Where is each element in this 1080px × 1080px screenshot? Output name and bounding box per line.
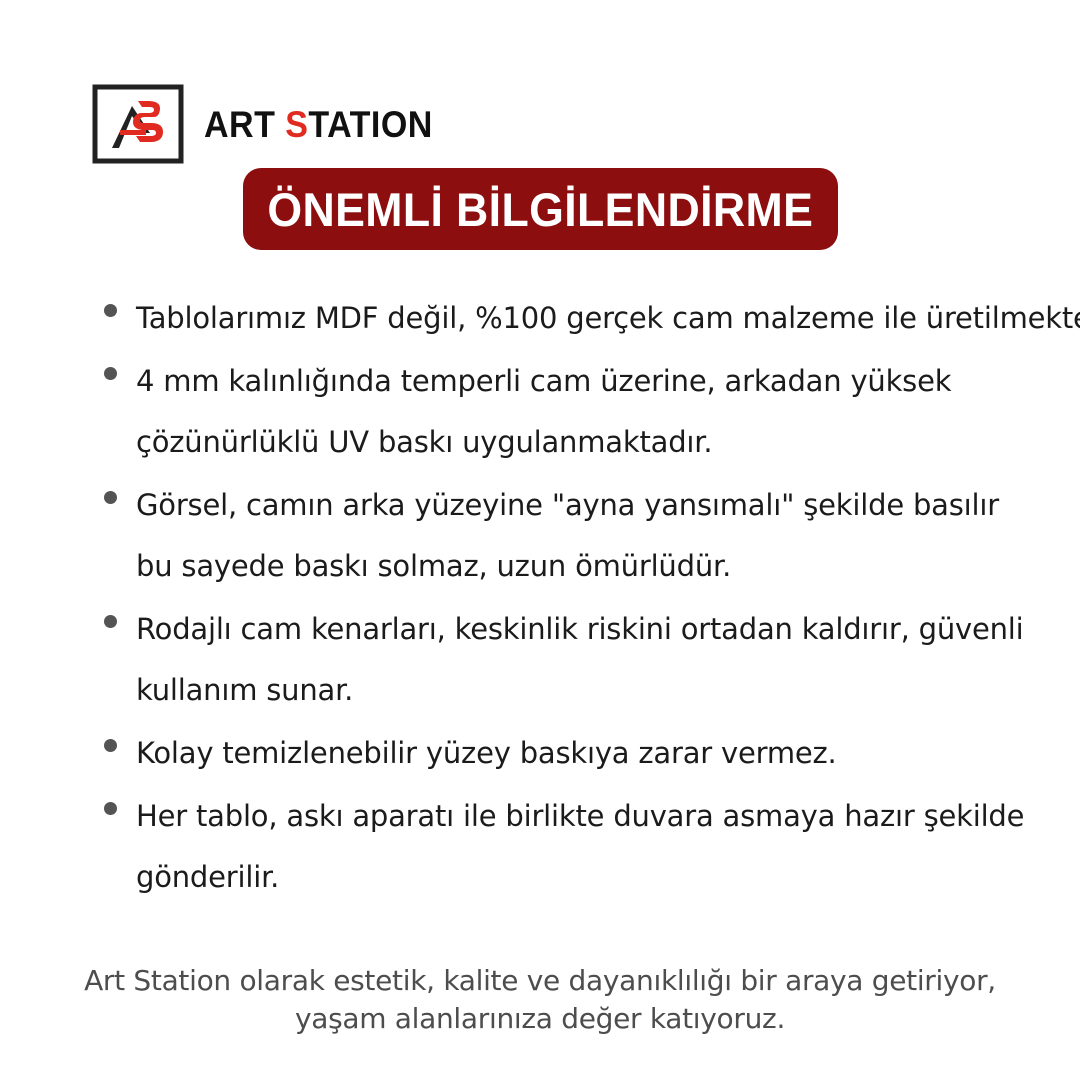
wordmark-art: ART xyxy=(204,104,285,145)
footer-line-1: Art Station olarak estetik, kalite ve da… xyxy=(0,962,1080,1000)
bullet-item: Tablolarımız MDF değil, %100 gerçek cam … xyxy=(100,288,1040,349)
bullet-dot-icon xyxy=(104,739,117,752)
infographic-page: { "brand": { "logo_icon": "art-station-m… xyxy=(0,0,1080,1080)
bullet-dot-icon xyxy=(104,802,117,815)
wordmark: ART STATION xyxy=(204,106,433,143)
bullet-item: Her tablo, askı aparatı ile birlikte duv… xyxy=(100,786,1040,908)
bullet-item: 4 mm kalınlığında temperli cam üzerine, … xyxy=(100,351,1040,473)
footer-tagline: Art Station olarak estetik, kalite ve da… xyxy=(0,962,1080,1038)
bullet-text-continued: çözünürlüklü UV baskı uygulanmaktadır. xyxy=(136,412,1040,473)
bullet-dot-icon xyxy=(104,367,117,380)
bullet-text-continued: gönderilir. xyxy=(136,847,1040,908)
bullet-text: Görsel, camın arka yüzeyine "ayna yansım… xyxy=(136,475,1040,536)
art-station-monogram-icon xyxy=(92,84,184,164)
bullet-text-continued: bu sayede baskı solmaz, uzun ömürlüdür. xyxy=(136,536,1040,597)
important-notice-banner: ÖNEMLİ BİLGİLENDİRME xyxy=(243,168,838,250)
bullet-text: Kolay temizlenebilir yüzey baskıya zarar… xyxy=(136,723,1040,784)
banner-title: ÖNEMLİ BİLGİLENDİRME xyxy=(268,186,814,233)
bullet-text: Rodajlı cam kenarları, keskinlik riskini… xyxy=(136,599,1040,660)
bullet-text-continued: kullanım sunar. xyxy=(136,660,1040,721)
brand-header: ART STATION xyxy=(92,84,453,164)
feature-bullet-list: Tablolarımız MDF değil, %100 gerçek cam … xyxy=(100,288,1040,910)
bullet-text: 4 mm kalınlığında temperli cam üzerine, … xyxy=(136,351,1040,412)
bullet-item: Görsel, camın arka yüzeyine "ayna yansım… xyxy=(100,475,1040,597)
bullet-dot-icon xyxy=(104,615,117,628)
bullet-dot-icon xyxy=(104,491,117,504)
bullet-item: Rodajlı cam kenarları, keskinlik riskini… xyxy=(100,599,1040,721)
wordmark-tation: TATION xyxy=(308,104,432,145)
wordmark-accent-s: S xyxy=(285,104,308,145)
bullet-dot-icon xyxy=(104,304,117,317)
footer-line-2: yaşam alanlarınıza değer katıyoruz. xyxy=(0,1000,1080,1038)
bullet-text: Her tablo, askı aparatı ile birlikte duv… xyxy=(136,786,1040,847)
bullet-text: Tablolarımız MDF değil, %100 gerçek cam … xyxy=(136,288,1040,349)
bullet-item: Kolay temizlenebilir yüzey baskıya zarar… xyxy=(100,723,1040,784)
